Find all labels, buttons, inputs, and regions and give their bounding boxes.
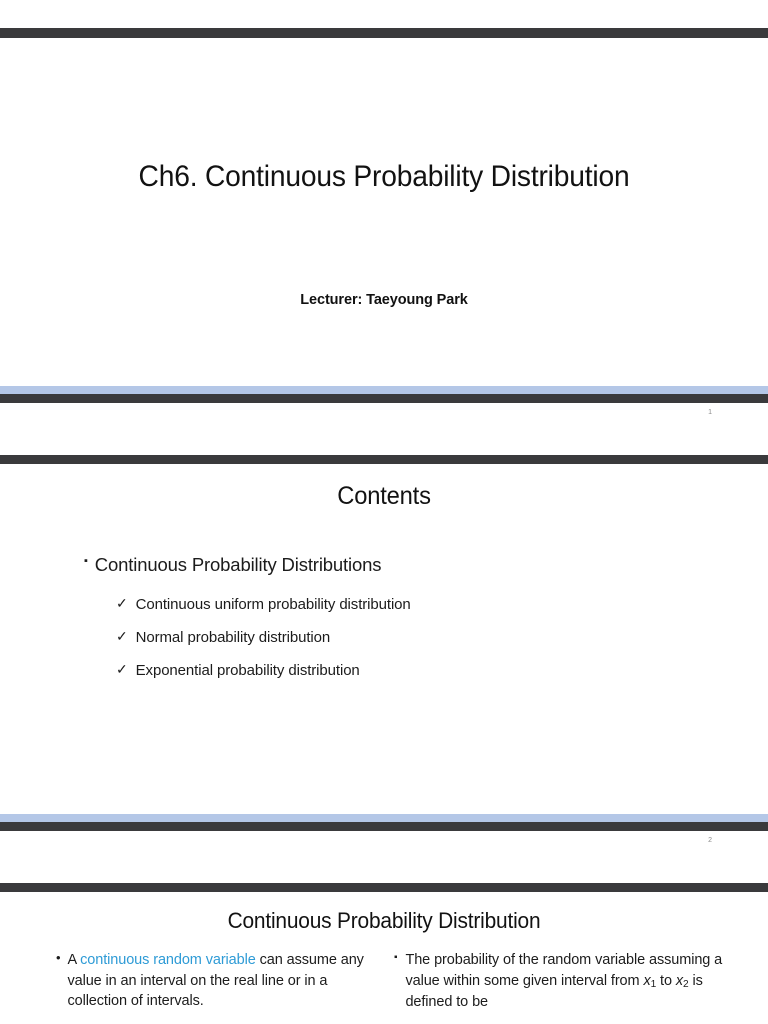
list-item: • A continuous random variable can assum…: [56, 950, 376, 1012]
slide-deck-viewer: Ch6. Continuous Probability Distribution…: [0, 0, 768, 1024]
list-item-label: Continuous uniform probability distribut…: [136, 596, 411, 613]
cpd-left-text-before: A: [67, 952, 80, 968]
square-bullet-icon: ▪: [84, 554, 88, 569]
page-title: Ch6. Continuous Probability Distribution: [23, 160, 745, 194]
cpd-variable-x1: x: [643, 973, 650, 989]
check-icon: ✓: [116, 629, 128, 644]
check-icon: ✓: [116, 662, 128, 677]
list-item: ✓ Continuous uniform probability distrib…: [116, 596, 768, 613]
list-item: ▪ The probability of the random variable…: [394, 950, 750, 1013]
check-icon: ✓: [116, 596, 128, 611]
list-item: ✓ Normal probability distribution: [116, 629, 768, 646]
cpd-variable-x2: x: [676, 973, 683, 989]
list-item-label: Exponential probability distribution: [136, 662, 360, 679]
list-item-label: Normal probability distribution: [136, 629, 331, 646]
slide-accent-band-2: [0, 814, 768, 822]
slide-title[interactable]: Ch6. Continuous Probability Distribution…: [0, 38, 768, 386]
slide-gutter-2: 2: [0, 831, 768, 883]
square-bullet-icon: ▪: [394, 950, 397, 966]
list-item: ▪ Continuous Probability Distributions: [84, 554, 768, 576]
contents-list: ▪ Continuous Probability Distributions ✓…: [0, 554, 768, 695]
cpd-left-accent-term: continuous random variable: [80, 952, 256, 968]
slide-accent-band-1: [0, 386, 768, 394]
slide-separator-bar-4: [0, 883, 768, 892]
page-number-1: 1: [708, 409, 712, 416]
cpd-heading: Continuous Probability Distribution: [19, 908, 749, 934]
list-item: ✓ Exponential probability distribution: [116, 662, 768, 679]
cpd-right-paragraph: The probability of the random variable a…: [405, 950, 750, 1013]
slide-gutter-1: 1: [0, 403, 768, 455]
list-item-label: Continuous Probability Distributions: [95, 554, 382, 576]
lecturer-line: Lecturer: Taeyoung Park: [0, 292, 768, 308]
slide-contents[interactable]: Contents ▪ Continuous Probability Distri…: [0, 464, 768, 814]
page-number-2: 2: [708, 837, 712, 844]
slide-separator-bar-1: [0, 394, 768, 403]
slide-separator-bar-3: [0, 822, 768, 831]
cpd-left-column: • A continuous random variable can assum…: [0, 950, 392, 1013]
round-bullet-icon: •: [56, 950, 60, 966]
contents-heading: Contents: [19, 482, 749, 511]
slide-separator-bar-2: [0, 455, 768, 464]
cpd-right-text-part2: to: [656, 973, 676, 989]
cpd-left-paragraph: A continuous random variable can assume …: [67, 950, 376, 1012]
cpd-two-column-body: • A continuous random variable can assum…: [0, 950, 768, 1013]
slide-continuous-probability-distribution[interactable]: Continuous Probability Distribution • A …: [0, 892, 768, 1018]
slide-separator-bar-top: [0, 28, 768, 38]
viewer-top-margin: [0, 0, 768, 28]
cpd-right-column: ▪ The probability of the random variable…: [392, 950, 768, 1013]
